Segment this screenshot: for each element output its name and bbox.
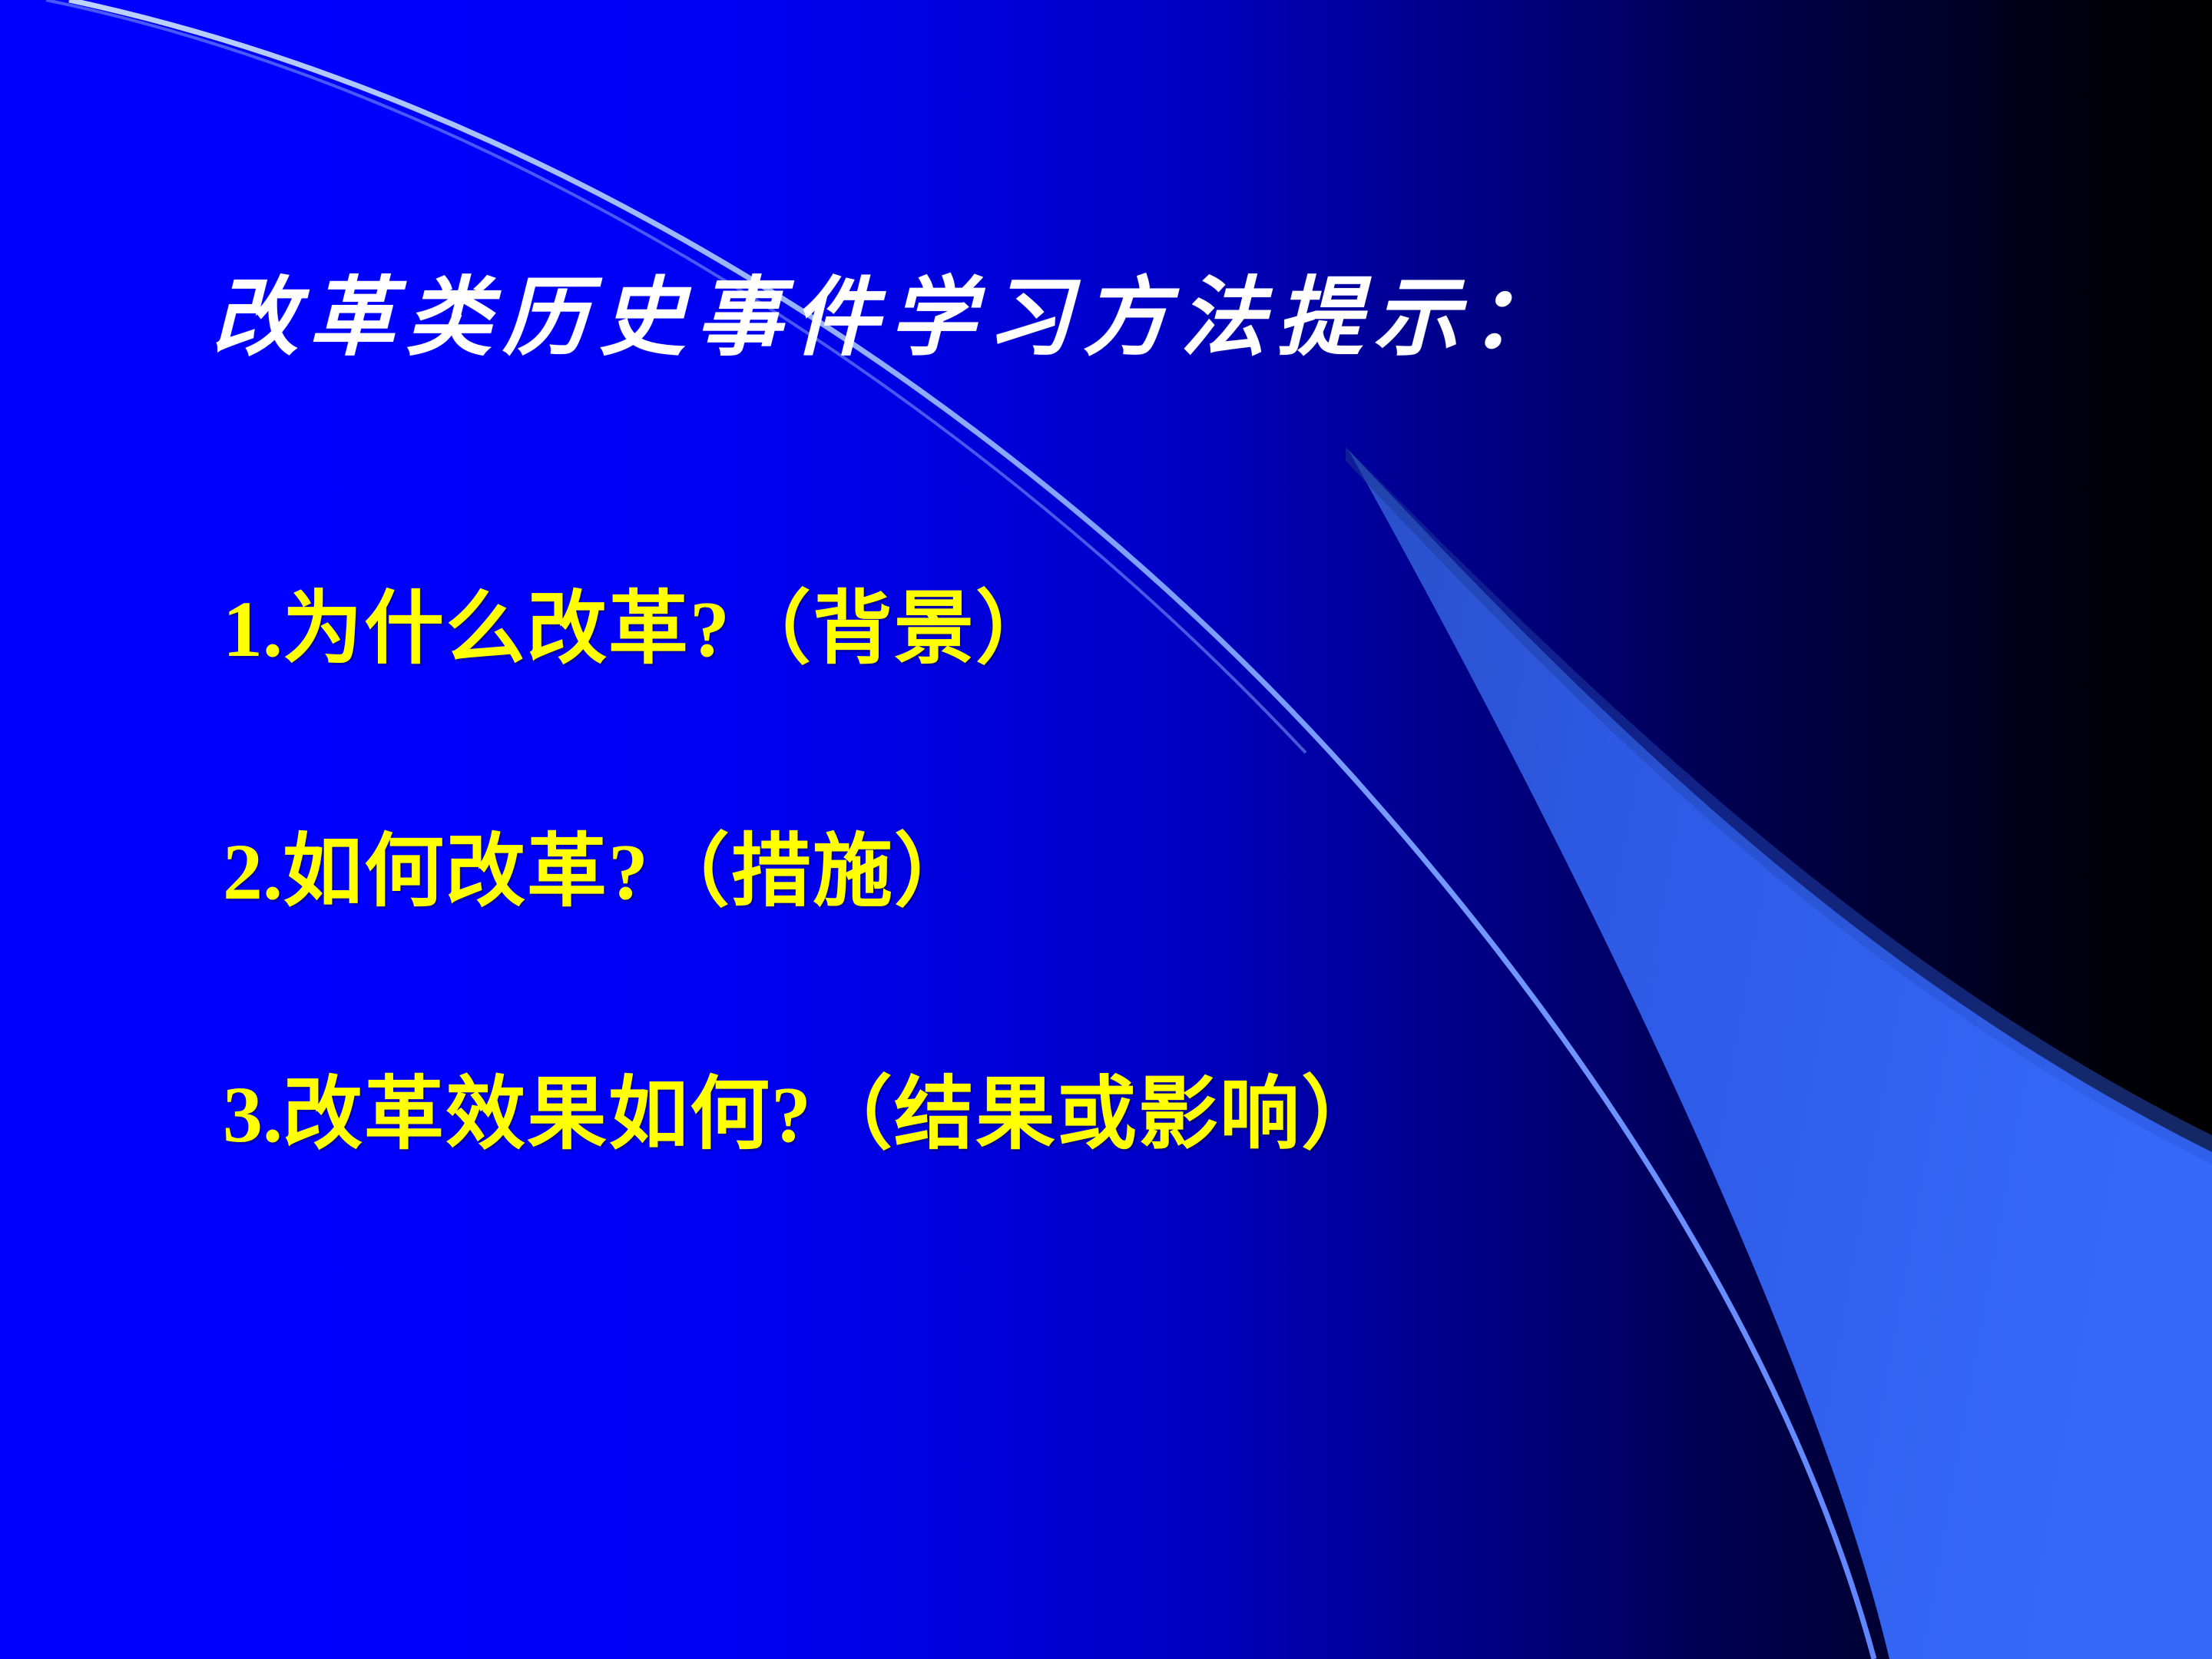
- presentation-slide: 改革类历史事件学习方法提示： 1.为什么改革?（背景） 2.如何改革?（措施） …: [0, 0, 2212, 1659]
- bullet-index: 2.: [223, 828, 283, 916]
- bullet-index: 3.: [223, 1071, 283, 1159]
- list-item: 1.为什么改革?（背景）: [223, 590, 2028, 670]
- slide-content: 改革类历史事件学习方法提示： 1.为什么改革?（背景） 2.如何改革?（措施） …: [0, 0, 2212, 1659]
- bullet-index: 1.: [223, 585, 283, 674]
- list-item: 3.改革效果如何?（结果或影响）: [223, 1075, 2028, 1155]
- list-item: 2.如何改革?（措施）: [223, 833, 2028, 912]
- bullet-text: 为什么改革?（背景）: [283, 585, 1057, 674]
- bullet-text: 改革效果如何?（结果或影响）: [283, 1071, 1382, 1159]
- bullet-text: 如何改革?（措施）: [283, 828, 975, 916]
- page-title: 改革类历史事件学习方法提示：: [212, 273, 1567, 363]
- bullet-list: 1.为什么改革?（背景） 2.如何改革?（措施） 3.改革效果如何?（结果或影响…: [223, 590, 2028, 1155]
